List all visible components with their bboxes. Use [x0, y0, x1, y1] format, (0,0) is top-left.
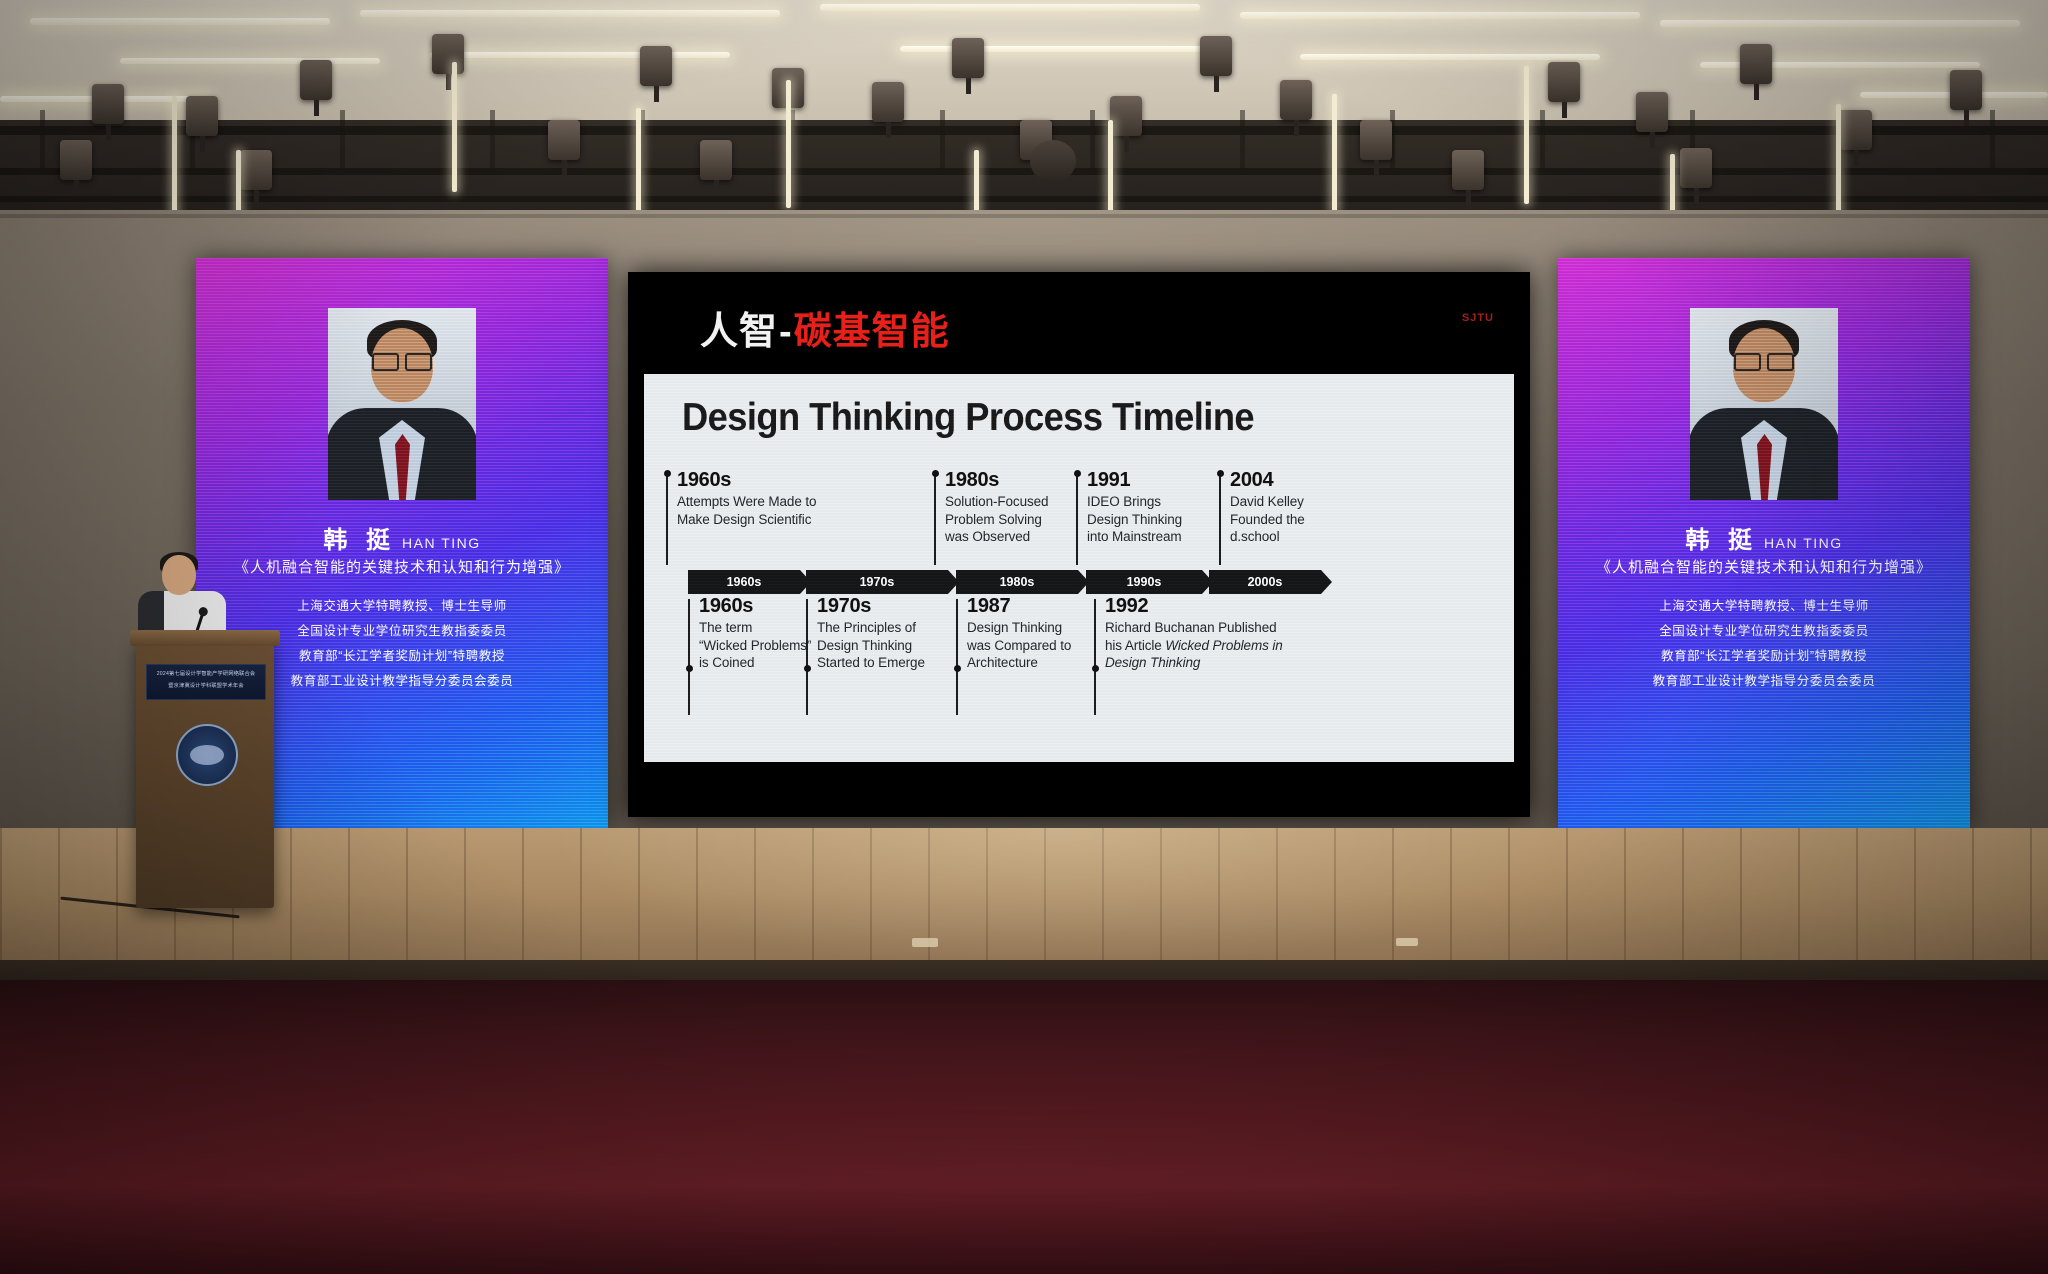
slide-title: Design Thinking Process Timeline — [682, 396, 1254, 440]
brand-logo: SJTU — [1462, 312, 1494, 324]
speaker-name-cn: 韩 挺 — [323, 527, 396, 554]
timeline-connector — [1219, 473, 1221, 565]
decade-label: 2000s — [1209, 570, 1321, 594]
timeline-top-row: 1960sAttempts Were Made toMake Design Sc… — [666, 470, 1506, 562]
talk-title-left: 《人机融合智能的关键技术和认知和行为增强》 — [196, 556, 608, 577]
slide-header-bar: 人智-碳基智能 SJTU — [636, 278, 1522, 374]
floor-light-pool — [560, 828, 1560, 968]
speaker-portrait-left — [328, 308, 476, 500]
slide-header-title: 人智-碳基智能 — [700, 300, 950, 355]
event-year: 1980s — [945, 470, 1080, 491]
credential-line-2: 全国设计专业学位研究生教指委委员 — [1558, 619, 1970, 644]
event-year: 2004 — [1230, 470, 1370, 491]
speaker-name-en: HAN TING — [1764, 535, 1843, 551]
main-presentation-screen: 人智-碳基智能 SJTU Design Thinking Process Tim… — [628, 272, 1530, 817]
timeline-event: 1960sThe term“Wicked Problems”is Coined — [688, 596, 819, 672]
slide: 人智-碳基智能 SJTU Design Thinking Process Tim… — [636, 278, 1522, 775]
timeline-event: 1992Richard Buchanan Publishedhis Articl… — [1094, 596, 1325, 672]
timeline-event: 2004David KelleyFounded thed.school — [1219, 470, 1370, 546]
event-year: 1960s — [677, 470, 927, 491]
conference-stage-photo: 韩 挺HAN TING 《人机融合智能的关键技术和认知和行为增强》 上海交通大学… — [0, 0, 2048, 1274]
timeline-event: 1960sAttempts Were Made toMake Design Sc… — [666, 470, 927, 528]
timeline-bottom-row: 1960sThe term“Wicked Problems”is Coined1… — [666, 596, 1506, 712]
floor-debris — [912, 938, 938, 947]
wall-seam — [0, 214, 2048, 218]
ceiling — [0, 0, 2048, 232]
timeline-dot — [1074, 470, 1081, 477]
timeline-dot — [954, 665, 961, 672]
speaker-credentials-right: 上海交通大学特聘教授、博士生导师全国设计专业学位研究生教指委委员教育部“长江学者… — [1558, 594, 1970, 694]
decade-label: 1960s — [688, 570, 800, 594]
glasses-icon — [1734, 353, 1794, 368]
timeline-event: 1970sThe Principles ofDesign ThinkingSta… — [806, 596, 967, 672]
event-description: The Principles ofDesign ThinkingStarted … — [817, 619, 967, 672]
event-description: David KelleyFounded thed.school — [1230, 493, 1370, 546]
ceiling-speaker — [1030, 140, 1076, 182]
credential-line-4: 教育部工业设计教学指导分委员会委员 — [1558, 669, 1970, 694]
slide-body: Design Thinking Process Timeline 1960sAt… — [644, 374, 1514, 762]
timeline-connector — [666, 473, 668, 565]
header-highlight: 碳基智能 — [794, 311, 950, 353]
credential-line-1: 上海交通大学特聘教授、博士生导师 — [196, 594, 608, 619]
floor-debris — [1396, 938, 1418, 946]
decade-arrow-bar: 1960s1970s1980s1990s2000s — [666, 570, 1512, 594]
event-description: Attempts Were Made toMake Design Scienti… — [677, 493, 927, 528]
audience-area — [0, 980, 2048, 1274]
event-description: Solution-FocusedProblem Solvingwas Obser… — [945, 493, 1080, 546]
speaker-portrait-right — [1690, 308, 1838, 500]
event-description: Richard Buchanan Publishedhis Article Wi… — [1105, 619, 1325, 672]
decade-label: 1970s — [806, 570, 948, 594]
timeline-connector — [1076, 473, 1078, 565]
speaker-name-cn: 韩 挺 — [1685, 527, 1758, 554]
speaker-name-right: 韩 挺HAN TING — [1558, 520, 1970, 555]
timeline-dot — [932, 470, 939, 477]
event-description: IDEO BringsDesign Thinkinginto Mainstrea… — [1087, 493, 1227, 546]
timeline-dot — [804, 665, 811, 672]
timeline-connector — [934, 473, 936, 565]
talk-title-right: 《人机融合智能的关键技术和认知和行为增强》 — [1558, 556, 1970, 577]
timeline-dot — [686, 665, 693, 672]
header-dash: - — [779, 311, 793, 353]
timeline-event: 1991IDEO BringsDesign Thinkinginto Mains… — [1076, 470, 1227, 546]
timeline-dot — [1092, 665, 1099, 672]
event-description: The term“Wicked Problems”is Coined — [699, 619, 819, 672]
podium: 2024第七届设计学智能产学研网络联合会 暨京津冀设计学科联盟学术年会 — [136, 640, 274, 908]
credential-line-3: 教育部“长江学者奖励计划”特聘教授 — [1558, 644, 1970, 669]
timeline-event: 1980sSolution-FocusedProblem Solvingwas … — [934, 470, 1080, 546]
glasses-icon — [372, 353, 432, 368]
decade-label: 1980s — [956, 570, 1078, 594]
event-year: 1992 — [1105, 596, 1325, 617]
podium-banner-line2: 暨京津冀设计学科联盟学术年会 — [147, 682, 265, 689]
timeline-dot — [1217, 470, 1224, 477]
credential-line-1: 上海交通大学特聘教授、博士生导师 — [1558, 594, 1970, 619]
decade-label: 1990s — [1086, 570, 1202, 594]
speaker-name-en: HAN TING — [402, 535, 481, 551]
event-year: 1970s — [817, 596, 967, 617]
event-description: Design Thinkingwas Compared toArchitectu… — [967, 619, 1107, 672]
event-year: 1960s — [699, 596, 819, 617]
timeline-connector — [956, 599, 958, 715]
side-led-panel-right: 韩 挺HAN TING 《人机融合智能的关键技术和认知和行为增强》 上海交通大学… — [1558, 258, 1970, 828]
podium-banner-line1: 2024第七届设计学智能产学研网络联合会 — [147, 670, 265, 677]
university-emblem — [176, 724, 238, 786]
speaker-name-left: 韩 挺HAN TING — [196, 520, 608, 555]
event-year: 1987 — [967, 596, 1107, 617]
timeline-connector — [806, 599, 808, 715]
timeline-connector — [1094, 599, 1096, 715]
timeline-dot — [664, 470, 671, 477]
event-year: 1991 — [1087, 470, 1227, 491]
podium-banner: 2024第七届设计学智能产学研网络联合会 暨京津冀设计学科联盟学术年会 — [146, 664, 266, 700]
timeline-event: 1987Design Thinkingwas Compared toArchit… — [956, 596, 1107, 672]
header-prefix: 人智 — [700, 311, 778, 353]
timeline-connector — [688, 599, 690, 715]
